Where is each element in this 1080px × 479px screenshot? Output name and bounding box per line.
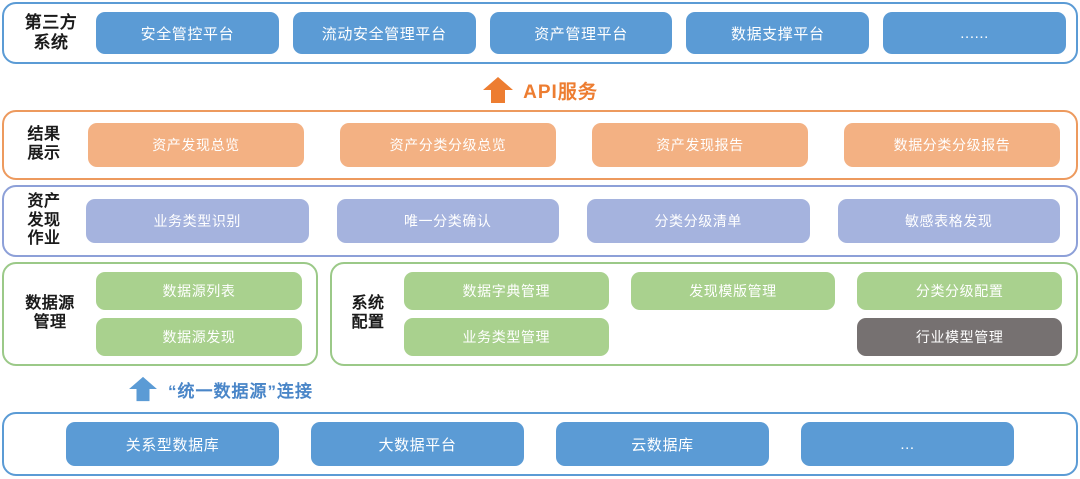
arrow-up-icon	[482, 76, 514, 104]
architecture-diagram: 第三方 系统 安全管控平台 流动安全管理平台 资产管理平台 数据支撑平台 ...…	[0, 0, 1080, 479]
source-chip-bigdata-platform[interactable]: 大数据平台	[311, 422, 524, 466]
third-party-systems-label: 第三方 系统	[12, 13, 90, 53]
api-service-connector: API服务	[0, 68, 1080, 112]
sysconfig-chip-industry-model-management[interactable]: 行业模型管理	[857, 318, 1062, 356]
system-configuration-label: 系统 配置	[342, 295, 394, 333]
asset-discovery-jobs-label: 资产 发现 作业	[16, 193, 72, 250]
third-party-chip-security-control[interactable]: 安全管控平台	[96, 12, 279, 54]
results-chip-asset-discovery-overview[interactable]: 资产发现总览	[88, 123, 304, 167]
results-chip-asset-discovery-report[interactable]: 资产发现报告	[592, 123, 808, 167]
sysconfig-chip-classification-config[interactable]: 分类分级配置	[857, 272, 1062, 310]
third-party-chip-mobile-security[interactable]: 流动安全管理平台	[293, 12, 476, 54]
source-chip-relational-database[interactable]: 关系型数据库	[66, 422, 279, 466]
arrow-up-icon	[128, 376, 158, 402]
datasource-chip-discovery[interactable]: 数据源发现	[96, 318, 302, 356]
data-sources-items: 关系型数据库 大数据平台 云数据库 ...	[4, 414, 1076, 474]
discovery-chip-classification-list[interactable]: 分类分级清单	[587, 199, 810, 243]
system-configuration-row: 系统 配置 数据字典管理 发现模版管理 分类分级配置 业务类型管理 行业模型管理	[330, 262, 1078, 366]
datasource-management-items: 数据源列表 数据源发现	[88, 272, 316, 356]
third-party-systems-row: 第三方 系统 安全管控平台 流动安全管理平台 资产管理平台 数据支撑平台 ...…	[2, 2, 1078, 64]
datasource-chip-list[interactable]: 数据源列表	[96, 272, 302, 310]
results-chip-data-classification-report[interactable]: 数据分类分级报告	[844, 123, 1060, 167]
source-chip-cloud-database[interactable]: 云数据库	[556, 422, 769, 466]
system-configuration-items: 数据字典管理 发现模版管理 分类分级配置 业务类型管理 行业模型管理	[394, 272, 1076, 356]
discovery-chip-business-type-recognition[interactable]: 业务类型识别	[86, 199, 309, 243]
third-party-chip-data-support[interactable]: 数据支撑平台	[686, 12, 869, 54]
third-party-systems-items: 安全管控平台 流动安全管理平台 资产管理平台 数据支撑平台 ......	[90, 4, 1076, 62]
sysconfig-chip-business-type-management[interactable]: 业务类型管理	[404, 318, 609, 356]
discovery-chip-unique-classification-confirm[interactable]: 唯一分类确认	[337, 199, 560, 243]
data-sources-row: 关系型数据库 大数据平台 云数据库 ...	[2, 412, 1078, 476]
datasource-management-label: 数据源 管理	[12, 295, 88, 333]
source-chip-more[interactable]: ...	[801, 422, 1014, 466]
unified-datasource-connector: “统一数据源”连接	[128, 370, 313, 408]
sysconfig-chip-discovery-template[interactable]: 发现模版管理	[631, 272, 836, 310]
api-service-label: API服务	[523, 77, 598, 104]
discovery-chip-sensitive-table-discovery[interactable]: 敏感表格发现	[838, 199, 1061, 243]
results-chip-asset-classification-overview[interactable]: 资产分类分级总览	[340, 123, 556, 167]
datasource-management-row: 数据源 管理 数据源列表 数据源发现	[2, 262, 318, 366]
results-display-label: 结果 展示	[14, 126, 74, 164]
unified-datasource-label: “统一数据源”连接	[168, 377, 313, 402]
results-display-row: 结果 展示 资产发现总览 资产分类分级总览 资产发现报告 数据分类分级报告	[2, 110, 1078, 180]
asset-discovery-jobs-items: 业务类型识别 唯一分类确认 分类分级清单 敏感表格发现	[72, 187, 1076, 255]
results-display-items: 资产发现总览 资产分类分级总览 资产发现报告 数据分类分级报告	[74, 112, 1076, 178]
third-party-chip-asset-management[interactable]: 资产管理平台	[490, 12, 673, 54]
asset-discovery-jobs-row: 资产 发现 作业 业务类型识别 唯一分类确认 分类分级清单 敏感表格发现	[2, 185, 1078, 257]
sysconfig-empty-cell	[631, 318, 836, 356]
third-party-chip-more[interactable]: ......	[883, 12, 1066, 54]
sysconfig-chip-data-dictionary[interactable]: 数据字典管理	[404, 272, 609, 310]
